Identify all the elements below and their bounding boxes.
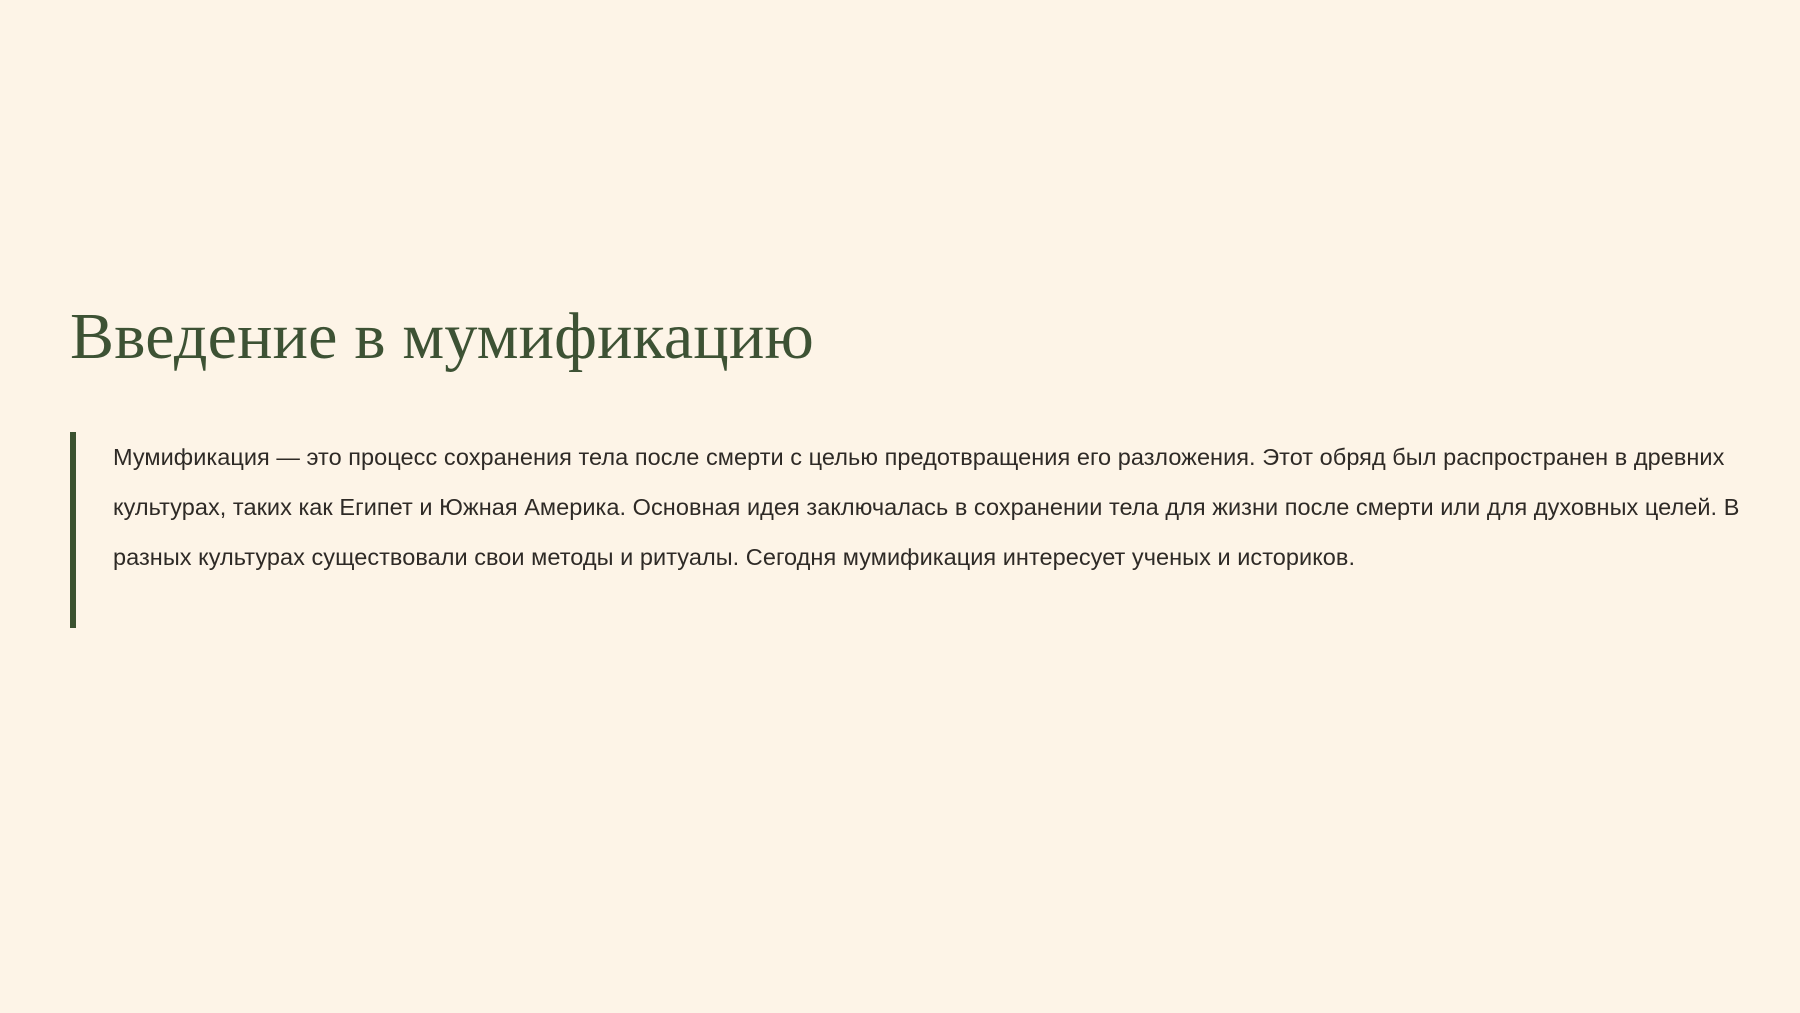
accent-bar <box>70 432 76 628</box>
slide-canvas: Введение в мумификацию Мумификация — это… <box>0 0 1800 1013</box>
intro-callout-block: Мумификация — это процесс сохранения тел… <box>70 432 1750 628</box>
page-title: Введение в мумификацию <box>70 300 1750 374</box>
intro-paragraph: Мумификация — это процесс сохранения тел… <box>113 432 1750 582</box>
slide-content: Введение в мумификацию Мумификация — это… <box>70 300 1750 628</box>
